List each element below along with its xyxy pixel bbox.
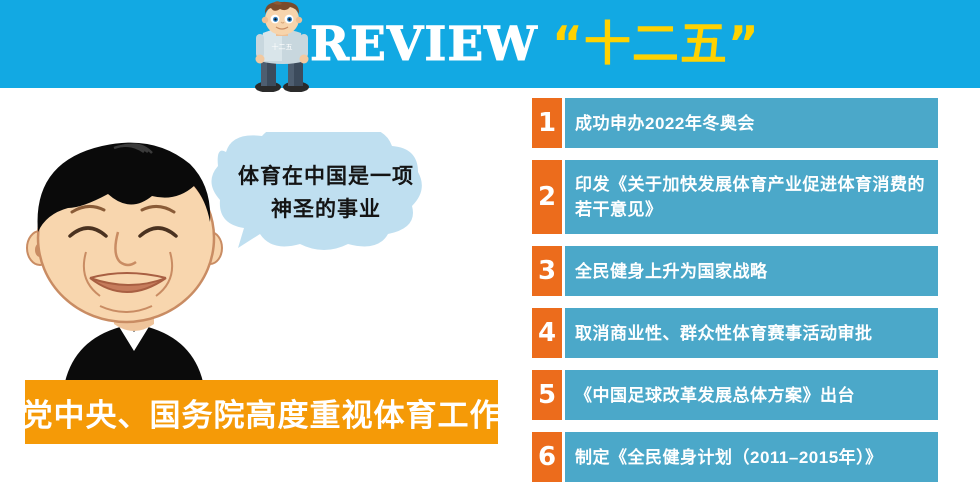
list-item-number: 3	[532, 246, 562, 296]
list-item[interactable]: 6 制定《全民健身计划（2011–2015年）》	[532, 432, 938, 482]
list-item-number: 6	[532, 432, 562, 482]
plan-label: “十二五”	[552, 21, 760, 68]
speech-bubble-line-1: 体育在中国是一项	[200, 160, 452, 193]
speech-bubble-text: 体育在中国是一项 神圣的事业	[200, 160, 452, 226]
list-item-text: 取消商业性、群众性体育赛事活动审批	[565, 308, 938, 358]
list-item[interactable]: 3 全民健身上升为国家战略	[532, 246, 938, 296]
list-item-text: 印发《关于加快发展体育产业促进体育消费的若干意见》	[565, 160, 938, 234]
mascot-shirt-text: 十二五	[272, 42, 293, 51]
header-title: REVIEW “十二五”	[310, 6, 760, 82]
list-item[interactable]: 1 成功申办2022年冬奥会	[532, 98, 938, 148]
list-item-text: 成功申办2022年冬奥会	[565, 98, 938, 148]
list-item-number: 4	[532, 308, 562, 358]
list-item-number: 5	[532, 370, 562, 420]
list-item[interactable]: 4 取消商业性、群众性体育赛事活动审批	[532, 308, 938, 358]
list-item-text: 《中国足球改革发展总体方案》出台	[565, 370, 938, 420]
achievement-list: 1 成功申办2022年冬奥会 2 印发《关于加快发展体育产业促进体育消费的若干意…	[532, 98, 938, 494]
list-item[interactable]: 5 《中国足球改革发展总体方案》出台	[532, 370, 938, 420]
speech-bubble-line-2: 神圣的事业	[200, 193, 452, 226]
bottom-banner: 党中央、国务院高度重视体育工作	[25, 380, 498, 444]
list-item-text: 全民健身上升为国家战略	[565, 246, 938, 296]
list-item-number: 2	[532, 160, 562, 234]
review-label: REVIEW	[310, 21, 538, 68]
bottom-banner-text: 党中央、国务院高度重视体育工作	[22, 390, 502, 435]
list-item-text: 制定《全民健身计划（2011–2015年）》	[565, 432, 938, 482]
list-item-number: 1	[532, 98, 562, 148]
list-item[interactable]: 2 印发《关于加快发展体育产业促进体育消费的若干意见》	[532, 160, 938, 234]
infographic-canvas: 十二五 REVIEW “十二五”	[0, 0, 980, 500]
